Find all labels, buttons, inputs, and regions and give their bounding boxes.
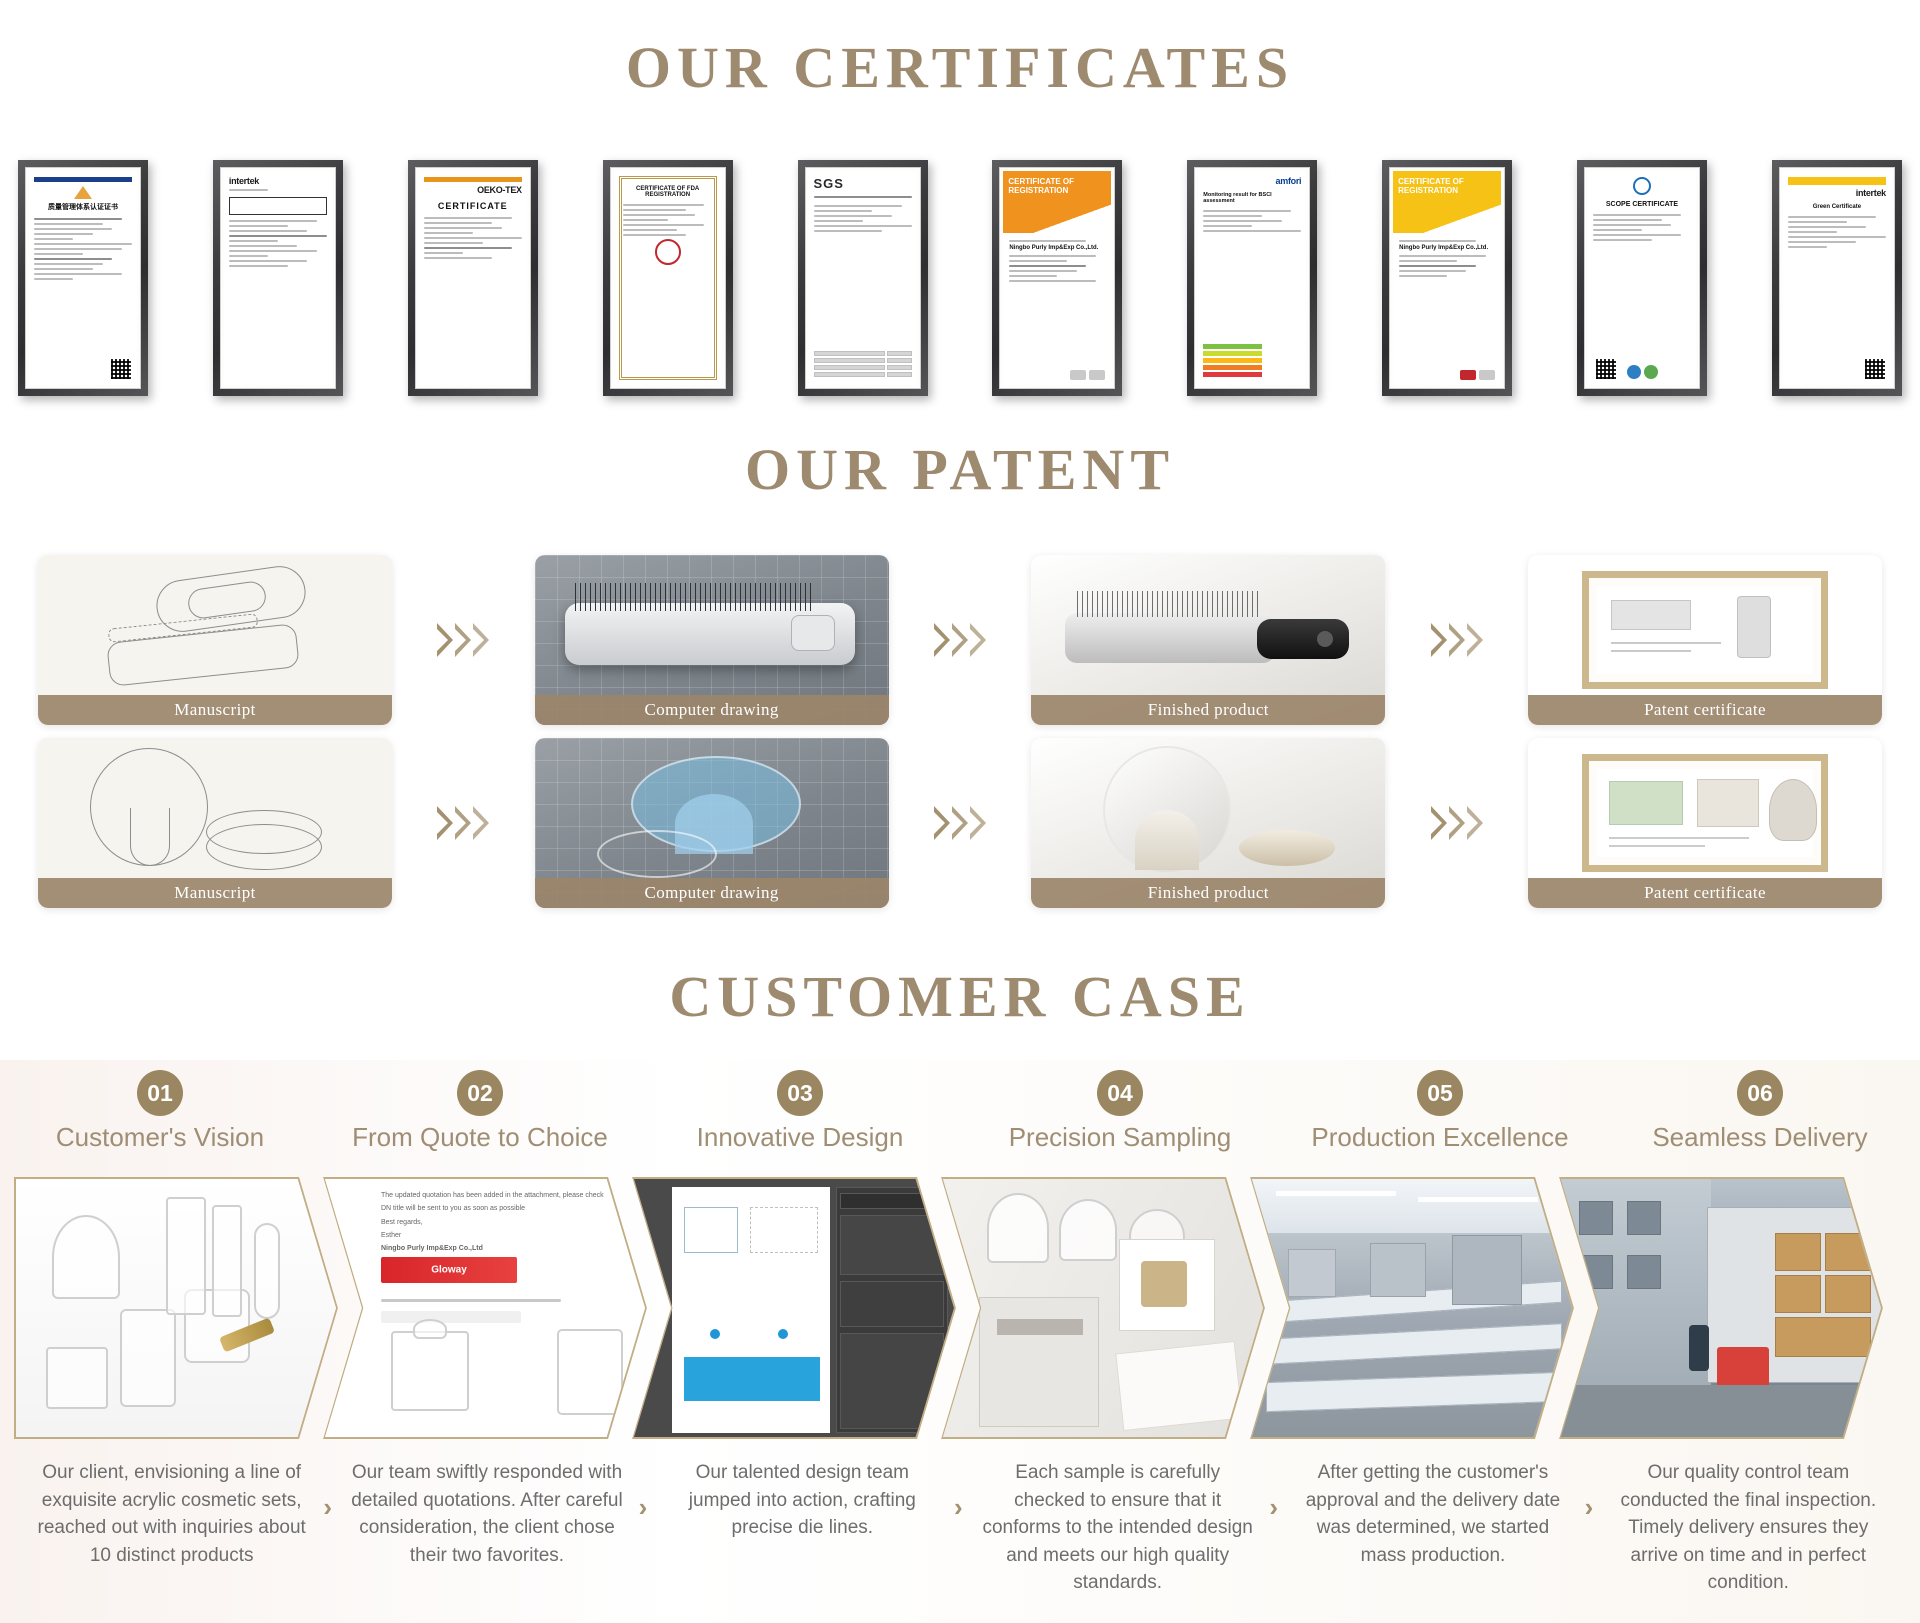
- case-panel-from-quote-to-choice[interactable]: The updated quotation has been added in …: [323, 1177, 647, 1439]
- certificate-title: CERTIFICATE OF REGISTRATION: [1008, 177, 1074, 195]
- chevron-right-icon: [970, 806, 986, 840]
- chevron-right-icon: ›: [1269, 1489, 1278, 1527]
- chevron-right-icon: [455, 623, 471, 657]
- certificate-frame-inner: amfori Monitoring result for BSCI assess…: [1194, 167, 1310, 389]
- certificate-brand: intertek: [229, 177, 327, 186]
- page-title-customer-case: CUSTOMER CASE: [0, 955, 1920, 1029]
- patent-row-hairbrush: Manuscript Computer drawing: [0, 555, 1920, 725]
- patent-arrow-group: [889, 806, 1032, 840]
- certificate-document: intertek Green Certificate: [1783, 171, 1891, 385]
- certificate-top-band: [34, 177, 132, 182]
- certificate-document: CERTIFICATE OF REGISTRATION Ningbo Purly…: [1003, 171, 1111, 385]
- certificate-document: OEKO-TEX CERTIFICATE: [419, 171, 527, 385]
- certificates-gallery: 质量管理体系认证证书 intertek: [0, 160, 1920, 410]
- patent-arrow-group: [1385, 623, 1528, 657]
- chevron-right-icon: ›: [639, 1489, 648, 1527]
- step-title: Seamless Delivery: [1600, 1122, 1920, 1153]
- step-title: Production Excellence: [1280, 1122, 1600, 1153]
- certificate-body-lines: [424, 215, 522, 379]
- certificate-body-lines: [229, 218, 327, 379]
- certificate-title-box: [229, 197, 327, 215]
- patent-card-label: Manuscript: [38, 878, 392, 908]
- certificate-top-band: [424, 177, 522, 182]
- patent-card-label: Computer drawing: [535, 695, 889, 725]
- certificate-title: Green Certificate: [1788, 204, 1886, 210]
- certificate-body-lines: [814, 203, 912, 348]
- chevron-right-icon: ›: [954, 1489, 963, 1527]
- patent-card-patent-certificate-1[interactable]: Patent certificate: [1528, 555, 1882, 725]
- patent-row-mirror: Manuscript Computer drawing: [0, 738, 1920, 908]
- step-header-02: 02 From Quote to Choice: [320, 1070, 640, 1170]
- patent-card-label: Manuscript: [38, 695, 392, 725]
- step-header-05: 05 Production Excellence: [1280, 1070, 1600, 1170]
- case-panel-innovative-design[interactable]: [632, 1177, 956, 1439]
- certificate-document: CERTIFICATE OF REGISTRATION Ningbo Purly…: [1393, 171, 1501, 385]
- certificate-frame-inner: CERTIFICATE OF FDA REGISTRATION: [610, 167, 726, 389]
- chevron-right-icon: [1431, 806, 1447, 840]
- certificate-document: intertek: [224, 171, 332, 385]
- caption-text: Each sample is carefully checked to ensu…: [982, 1462, 1252, 1593]
- certificate-thumbnail-fda-registration[interactable]: CERTIFICATE OF FDA REGISTRATION: [603, 160, 733, 396]
- step-header-01: 01 Customer's Vision: [0, 1070, 320, 1170]
- die-line-design-screenshot: [634, 1179, 954, 1437]
- step-title: Precision Sampling: [960, 1122, 1280, 1153]
- certificate-thumbnail-oeko-tex[interactable]: OEKO-TEX CERTIFICATE: [408, 160, 538, 396]
- certificate-top-band: [1788, 177, 1886, 185]
- case-panel-production-excellence[interactable]: [1250, 1177, 1574, 1439]
- certificate-brand: SGS: [814, 177, 912, 190]
- certificate-frame-inner: OEKO-TEX CERTIFICATE: [415, 167, 531, 389]
- page-title-certificates: OUR CERTIFICATES: [0, 0, 1920, 100]
- certificate-frame-inner: SCOPE CERTIFICATE: [1584, 167, 1700, 389]
- step-title: Customer's Vision: [0, 1122, 320, 1153]
- qr-code-icon: [1865, 359, 1885, 379]
- certificate-thumbnail-quality-management[interactable]: 质量管理体系认证证书: [18, 160, 148, 396]
- step-title: Innovative Design: [640, 1122, 960, 1153]
- certificate-document: CERTIFICATE OF FDA REGISTRATION: [614, 171, 722, 385]
- certificate-brand: amfori: [1203, 177, 1301, 186]
- certificate-title: CERTIFICATE OF FDA REGISTRATION: [623, 186, 713, 198]
- customer-case-section: CUSTOMER CASE 01 Customer's Vision 02 Fr…: [0, 955, 1920, 1623]
- patent-card-label: Patent certificate: [1528, 878, 1882, 908]
- rating-color-bars: [1203, 344, 1301, 379]
- step-header-03: 03 Innovative Design: [640, 1070, 960, 1170]
- framed-certificate: [1582, 754, 1828, 872]
- framed-certificate: [1582, 571, 1828, 689]
- shipping-loading-photo: [1561, 1179, 1881, 1437]
- certificate-document: 质量管理体系认证证书: [29, 171, 137, 385]
- patent-arrow-group: [392, 806, 535, 840]
- certificate-thumbnail-amfori-bsci[interactable]: amfori Monitoring result for BSCI assess…: [1187, 160, 1317, 396]
- certificate-body-lines: [623, 202, 713, 236]
- patent-card-computer-drawing-2[interactable]: Computer drawing: [535, 738, 889, 908]
- chevron-right-icon: [455, 806, 471, 840]
- certificate-thumbnail-intertek-green[interactable]: intertek Green Certificate: [1772, 160, 1902, 396]
- email-line-1: The updated quotation has been added in …: [381, 1189, 633, 1202]
- accreditation-logos: [1393, 369, 1501, 385]
- certificate-frame-inner: SGS: [805, 167, 921, 389]
- step-title: From Quote to Choice: [320, 1122, 640, 1153]
- official-seal-icon: [655, 239, 681, 265]
- chevron-right-icon: [952, 623, 968, 657]
- page-title-patent: OUR PATENT: [0, 430, 1920, 502]
- certificate-title: CERTIFICATE OF REGISTRATION: [1398, 177, 1464, 195]
- customer-case-captions: › Our client, envisioning a line of exqu…: [14, 1455, 1906, 1585]
- patent-card-patent-certificate-2[interactable]: Patent certificate: [1528, 738, 1882, 908]
- certificate-body-lines: [1788, 214, 1886, 379]
- caption-text: After getting the customer's approval an…: [1306, 1462, 1561, 1566]
- email-line-4: Esther: [381, 1229, 633, 1242]
- patent-arrow-group: [889, 623, 1032, 657]
- certificate-frame-inner: CERTIFICATE OF REGISTRATION Ningbo Purly…: [999, 167, 1115, 389]
- certificate-document: SCOPE CERTIFICATE: [1588, 171, 1696, 385]
- step-number-badge: 03: [777, 1070, 823, 1116]
- case-panel-precision-sampling[interactable]: [941, 1177, 1265, 1439]
- case-panel-customers-vision[interactable]: [14, 1177, 338, 1439]
- chevron-right-icon: [934, 806, 950, 840]
- patent-card-label: Finished product: [1031, 878, 1385, 908]
- step-header-06: 06 Seamless Delivery: [1600, 1070, 1920, 1170]
- factory-production-line-photo: [1252, 1179, 1572, 1437]
- patent-card-label: Computer drawing: [535, 878, 889, 908]
- patent-card-finished-product-2[interactable]: Finished product: [1031, 738, 1385, 908]
- patent-arrow-group: [392, 623, 535, 657]
- caption-text: Our quality control team conducted the f…: [1620, 1462, 1876, 1593]
- patent-card-label: Finished product: [1031, 695, 1385, 725]
- certificate-body-lines: [1203, 208, 1301, 340]
- certificate-body-lines: [34, 216, 132, 379]
- case-panel-seamless-delivery[interactable]: [1559, 1177, 1883, 1439]
- step-header-04: 04 Precision Sampling: [960, 1070, 1280, 1170]
- email-body-text: The updated quotation has been added in …: [381, 1189, 633, 1255]
- sample-inspection-photo: [943, 1179, 1263, 1437]
- chevron-right-icon: [1467, 623, 1483, 657]
- customer-case-steps: 01 Customer's Vision 02 From Quote to Ch…: [0, 1070, 1920, 1170]
- chevron-right-icon: [970, 623, 986, 657]
- chevron-right-icon: [437, 806, 453, 840]
- certificate-title: Monitoring result for BSCI assessment: [1203, 192, 1301, 204]
- case-caption-06: › Our quality control team conducted the…: [1591, 1455, 1906, 1585]
- step-number-badge: 04: [1097, 1070, 1143, 1116]
- chevron-right-icon: [1431, 623, 1447, 657]
- certificate-company: Ningbo Purly Imp&Exp Co.,Ltd.: [1009, 245, 1105, 251]
- chevron-right-icon: [1449, 806, 1465, 840]
- certificate-frame-inner: 质量管理体系认证证书: [25, 167, 141, 389]
- certificate-title: SCOPE CERTIFICATE: [1593, 201, 1691, 208]
- caption-text: Our client, envisioning a line of exquis…: [38, 1462, 306, 1566]
- chevron-right-icon: [1449, 623, 1465, 657]
- certificate-frame-inner: intertek: [220, 167, 336, 389]
- certificate-document: amfori Monitoring result for BSCI assess…: [1198, 171, 1306, 385]
- control-union-logo-icon: [1633, 177, 1651, 195]
- certificate-title: 质量管理体系认证证书: [34, 202, 132, 212]
- certificate-hero-title: CERTIFICATE OF REGISTRATION: [1398, 177, 1496, 195]
- quotation-email-screenshot: The updated quotation has been added in …: [325, 1179, 645, 1437]
- step-number-badge: 01: [137, 1070, 183, 1116]
- results-table: [814, 351, 912, 379]
- email-line-2: DN title will be sent to you as soon as …: [381, 1202, 633, 1215]
- email-line-3: Best regards,: [381, 1216, 633, 1229]
- certificate-company: Ningbo Purly Imp&Exp Co.,Ltd.: [1399, 245, 1495, 251]
- certificate-brand: OEKO-TEX: [424, 186, 522, 195]
- chevron-right-icon: ›: [323, 1489, 332, 1527]
- certificate-brand: intertek: [1788, 189, 1886, 198]
- caption-text: Our talented design team jumped into act…: [689, 1462, 916, 1538]
- case-caption-05: › After getting the customer's approval …: [1275, 1455, 1590, 1585]
- certificate-body-lines: [1593, 212, 1691, 357]
- chevron-right-icon: ›: [1585, 1489, 1594, 1527]
- certificate-title: CERTIFICATE: [424, 201, 522, 211]
- chevron-right-icon: [473, 806, 489, 840]
- patent-card-label: Patent certificate: [1528, 695, 1882, 725]
- certificate-thumbnail-sai-global[interactable]: CERTIFICATE OF REGISTRATION Ningbo Purly…: [1382, 160, 1512, 396]
- patent-section: OUR PATENT Manuscript Computer d: [0, 430, 1920, 930]
- chevron-right-icon: [934, 623, 950, 657]
- certificate-hero: CERTIFICATE OF REGISTRATION: [1393, 171, 1501, 233]
- certificate-document: SGS: [809, 171, 917, 385]
- patent-card-manuscript-1[interactable]: Manuscript: [38, 555, 392, 725]
- certificate-thumbnail-intertek-registration[interactable]: CERTIFICATE OF REGISTRATION Ningbo Purly…: [992, 160, 1122, 396]
- certificate-hero: CERTIFICATE OF REGISTRATION: [1003, 171, 1111, 233]
- certificate-thumbnail-sgs-test-report[interactable]: SGS: [798, 160, 928, 396]
- email-company: Ningbo Purly Imp&Exp Co.,Ltd: [381, 1242, 633, 1255]
- certificate-thumbnail-grs-scope[interactable]: SCOPE CERTIFICATE: [1577, 160, 1707, 396]
- customer-case-panels: The updated quotation has been added in …: [14, 1177, 1906, 1439]
- certificate-hero-title: CERTIFICATE OF REGISTRATION: [1008, 177, 1106, 195]
- gloway-banner-label: Gloway: [431, 1265, 467, 1276]
- step-number-badge: 02: [457, 1070, 503, 1116]
- qr-code-icon: [1596, 359, 1616, 379]
- chevron-right-icon: [952, 806, 968, 840]
- patent-card-finished-product-1[interactable]: Finished product: [1031, 555, 1385, 725]
- qr-code-icon: [111, 359, 131, 379]
- case-caption-03: › Our talented design team jumped into a…: [645, 1455, 960, 1585]
- step-number-badge: 06: [1737, 1070, 1783, 1116]
- cnas-star-icon: [74, 186, 92, 199]
- patent-arrow-group: [1385, 806, 1528, 840]
- certificate-frame-inner: CERTIFICATE OF REGISTRATION Ningbo Purly…: [1389, 167, 1505, 389]
- acrylic-products-photo: [16, 1179, 336, 1437]
- case-caption-01: › Our client, envisioning a line of exqu…: [14, 1455, 329, 1585]
- step-number-badge: 05: [1417, 1070, 1463, 1116]
- gloway-banner: Gloway: [381, 1257, 517, 1283]
- chevron-right-icon: [437, 623, 453, 657]
- patent-card-manuscript-2[interactable]: Manuscript: [38, 738, 392, 908]
- certificate-thumbnail-toxicological-risk-assessment[interactable]: intertek: [213, 160, 343, 396]
- chevron-right-icon: [473, 623, 489, 657]
- caption-text: Our team swiftly responded with detailed…: [351, 1462, 622, 1566]
- chevron-right-icon: [1467, 806, 1483, 840]
- certificate-frame-inner: intertek Green Certificate: [1779, 167, 1895, 389]
- patent-card-computer-drawing-1[interactable]: Computer drawing: [535, 555, 889, 725]
- case-caption-02: › Our team swiftly responded with detail…: [329, 1455, 644, 1585]
- case-caption-04: › Each sample is carefully checked to en…: [960, 1455, 1275, 1585]
- accreditation-logos: [1003, 369, 1111, 385]
